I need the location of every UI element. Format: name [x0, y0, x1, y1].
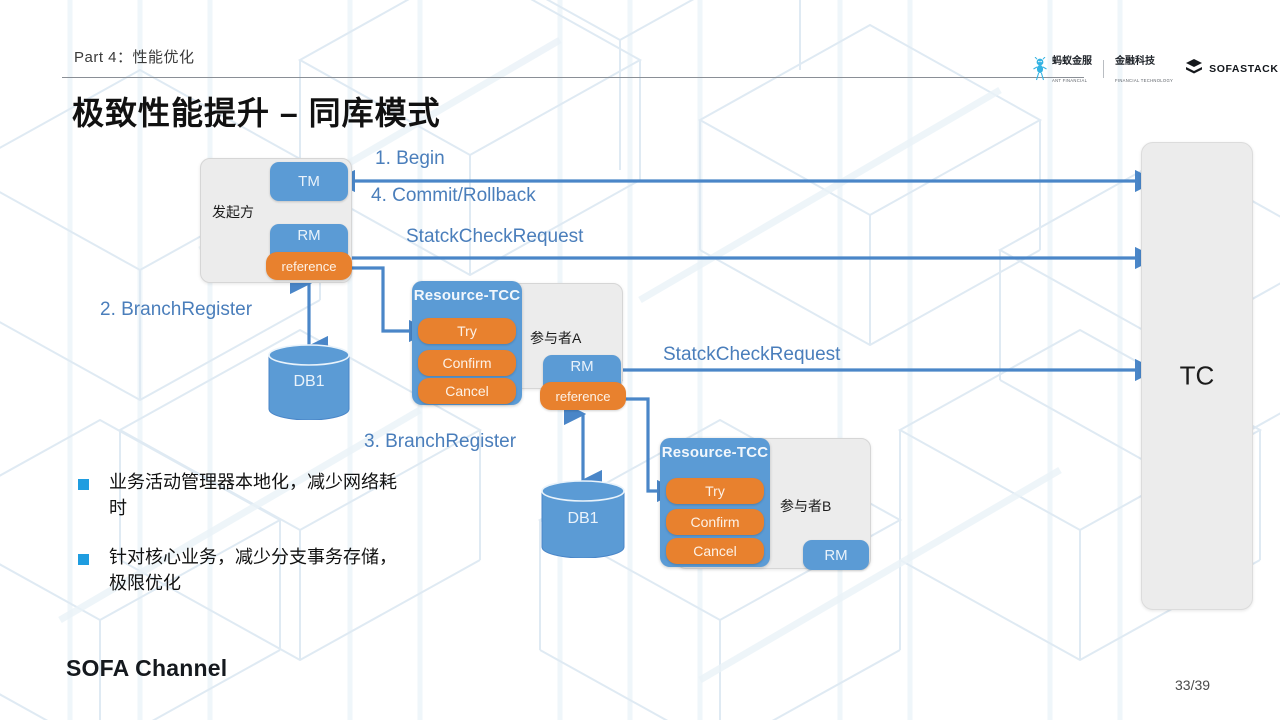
participant-a-try-label: Try [457, 323, 477, 339]
tc-box[interactable]: TC [1141, 142, 1253, 610]
flow-label-begin: 1. Begin [375, 148, 445, 170]
tc-label: TC [1142, 361, 1252, 392]
initiator-reference-label: reference [282, 259, 337, 274]
participant-a-reference-label: reference [556, 389, 611, 404]
participant-a-label: 参与者A [530, 328, 581, 348]
participant-b-confirm-label: Confirm [690, 514, 739, 530]
participant-b-confirm-button[interactable]: Confirm [666, 509, 764, 535]
slide-canvas: Part 4：性能优化 极致性能提升 – 同库模式 蚂蚁金服 ANT FINAN… [0, 0, 1280, 720]
participant-a-confirm-button[interactable]: Confirm [418, 350, 516, 376]
participant-a-rm-label: RM [570, 358, 593, 375]
initiator-reference-box[interactable]: reference [266, 252, 352, 280]
participant-a-reference-box[interactable]: reference [540, 382, 626, 410]
participant-a-db-cylinder[interactable]: DB1 [540, 480, 626, 558]
participant-a-cancel-button[interactable]: Cancel [418, 378, 516, 404]
participant-b-cancel-label: Cancel [693, 543, 737, 559]
initiator-db-label: DB1 [267, 344, 351, 420]
participant-b-rm-label: RM [824, 547, 847, 564]
participant-b-label: 参与者B [780, 496, 831, 516]
bullet-square-icon [78, 479, 89, 490]
list-item: 业务活动管理器本地化，减少网络耗时 [78, 470, 398, 521]
initiator-rm-label: RM [297, 227, 320, 244]
bullet-text: 业务活动管理器本地化，减少网络耗时 [109, 470, 398, 521]
initiator-db-cylinder[interactable]: DB1 [267, 344, 351, 420]
page-number: 33/39 [1175, 677, 1210, 693]
participant-a-confirm-label: Confirm [442, 355, 491, 371]
participant-b-cancel-button[interactable]: Cancel [666, 538, 764, 564]
initiator-label: 发起方 [212, 202, 254, 222]
participant-b-try-button[interactable]: Try [666, 478, 764, 504]
participant-a-tcc-title: Resource-TCC [412, 287, 522, 304]
list-item: 针对核心业务，减少分支事务存储，极限优化 [78, 545, 398, 596]
participant-b-tcc-title: Resource-TCC [660, 444, 770, 461]
bullet-list: 业务活动管理器本地化，减少网络耗时 针对核心业务，减少分支事务存储，极限优化 [78, 470, 398, 620]
participant-a-db-label: DB1 [540, 480, 626, 558]
flow-label-status-check-mid: StatckCheckRequest [663, 344, 840, 366]
flow-label-status-check-top: StatckCheckRequest [406, 226, 583, 248]
participant-a-cancel-label: Cancel [445, 383, 489, 399]
bullet-text: 针对核心业务，减少分支事务存储，极限优化 [109, 545, 398, 596]
bullet-square-icon [78, 554, 89, 565]
flow-label-branch-register-2: 2. BranchRegister [100, 299, 252, 321]
participant-b-rm-box[interactable]: RM [803, 540, 869, 570]
flow-label-branch-register-3: 3. BranchRegister [364, 431, 516, 453]
initiator-tm-box[interactable]: TM [270, 162, 348, 201]
initiator-tm-label: TM [298, 173, 320, 190]
footer-brand: SOFA Channel [66, 655, 227, 682]
participant-b-try-label: Try [705, 483, 725, 499]
flow-label-commit-rollback: 4. Commit/Rollback [371, 185, 536, 207]
participant-a-try-button[interactable]: Try [418, 318, 516, 344]
